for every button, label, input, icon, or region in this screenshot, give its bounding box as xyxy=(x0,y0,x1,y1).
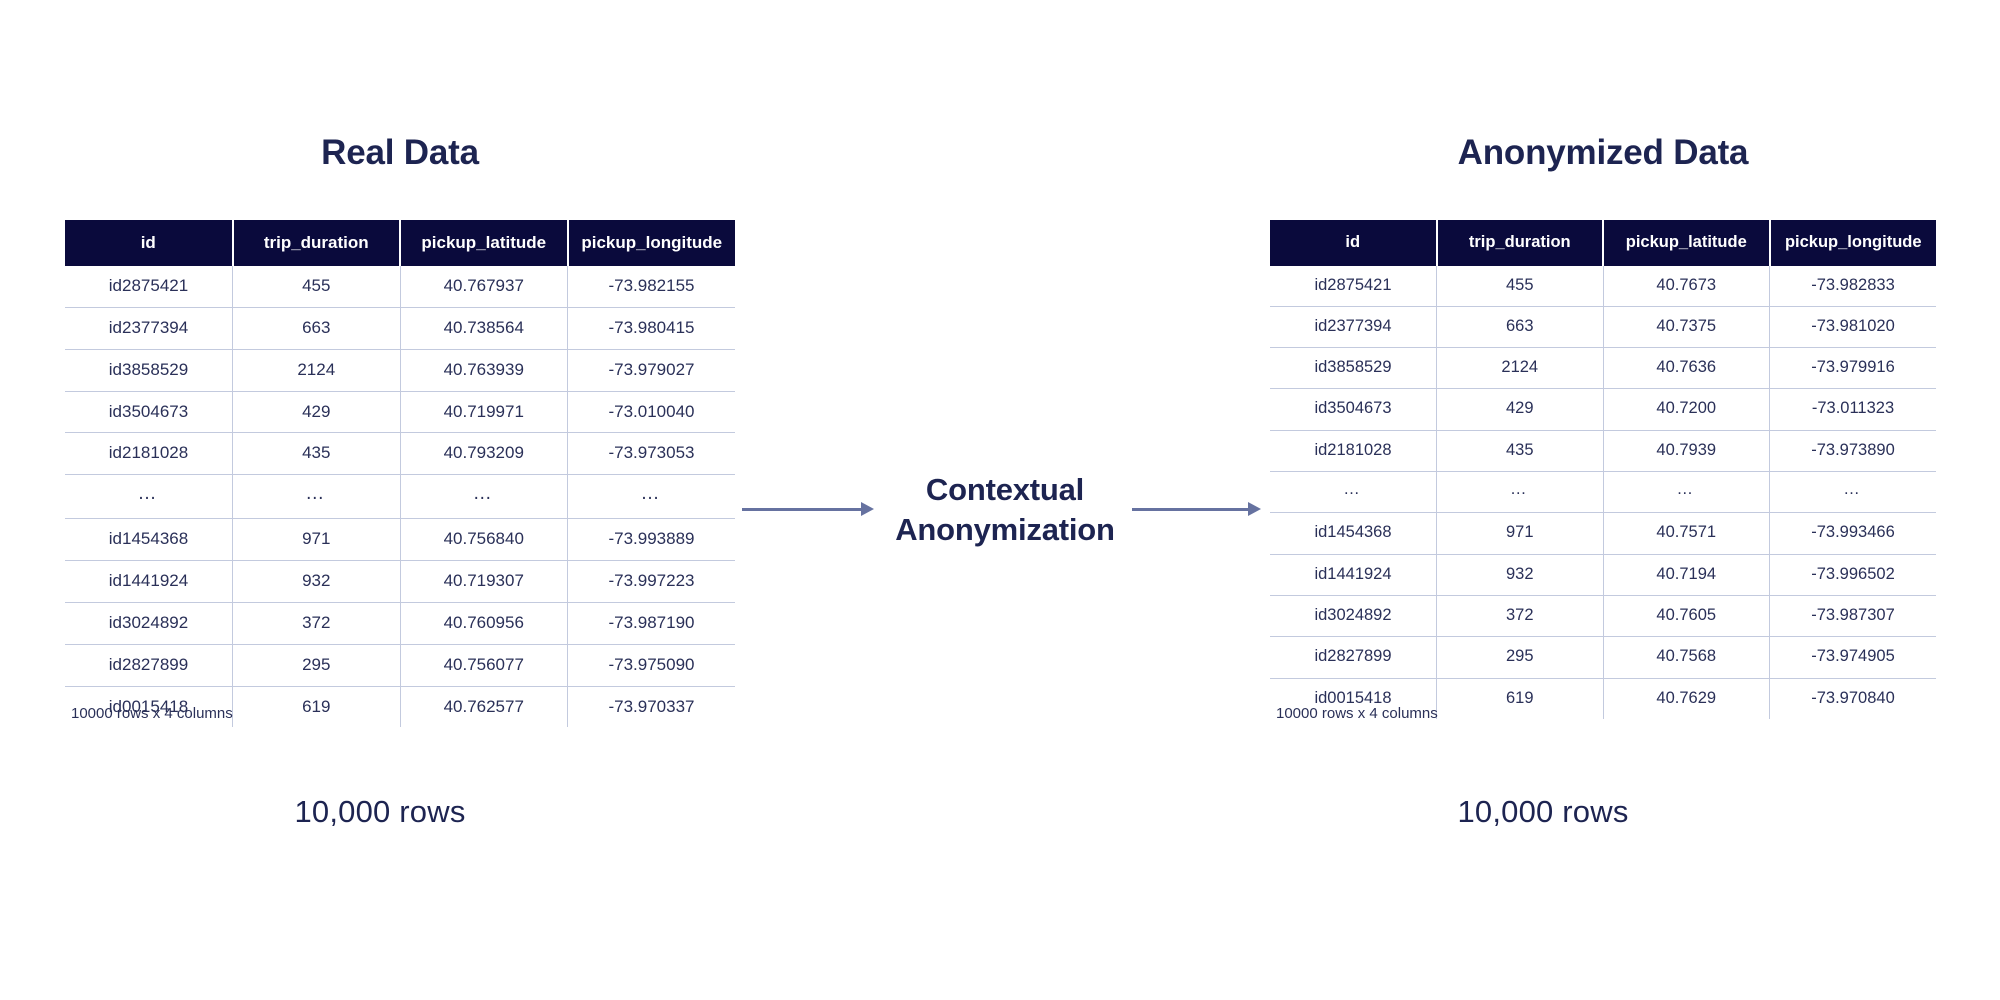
cell-duration: 372 xyxy=(233,602,401,644)
cell-id: id2181028 xyxy=(65,433,233,475)
arrow-line xyxy=(1132,508,1249,511)
column-header-pickup-longitude: pickup_longitude xyxy=(568,220,736,266)
table-row-ellipsis: … … … … xyxy=(65,475,735,519)
transform-label-line1: Contextual xyxy=(926,472,1084,507)
table-row: id2827899 295 40.7568 -73.974905 xyxy=(1270,637,1936,678)
cell-latitude: 40.763939 xyxy=(400,349,568,391)
cell-ellipsis-id: … xyxy=(65,475,233,519)
cell-id: id1441924 xyxy=(65,561,233,603)
cell-duration: 455 xyxy=(233,266,401,307)
cell-latitude: 40.756077 xyxy=(400,644,568,686)
cell-id: id1441924 xyxy=(1270,554,1437,595)
cell-longitude: -73.997223 xyxy=(568,561,736,603)
cell-longitude: -73.993466 xyxy=(1770,513,1937,554)
cell-longitude: -73.973890 xyxy=(1770,430,1937,471)
cell-longitude: -73.996502 xyxy=(1770,554,1937,595)
table-row: id3024892 372 40.7605 -73.987307 xyxy=(1270,596,1936,637)
cell-longitude: -73.970337 xyxy=(568,686,736,727)
table-row-ellipsis: … … … … xyxy=(1270,472,1936,513)
table-row: id2875421 455 40.767937 -73.982155 xyxy=(65,266,735,307)
cell-longitude: -73.979916 xyxy=(1770,348,1937,389)
cell-id: id3024892 xyxy=(1270,596,1437,637)
cell-latitude: 40.7200 xyxy=(1603,389,1770,430)
cell-latitude: 40.738564 xyxy=(400,307,568,349)
column-header-trip-duration: trip_duration xyxy=(1437,220,1604,266)
cell-id: id3024892 xyxy=(65,602,233,644)
cell-id: id3504673 xyxy=(65,391,233,433)
real-data-shape-caption: 10000 rows x 4 columns xyxy=(71,705,233,722)
arrow-head xyxy=(1248,502,1261,516)
anonymization-transform: Contextual Anonymization xyxy=(740,470,1265,580)
cell-latitude: 40.7194 xyxy=(1603,554,1770,595)
cell-duration: 619 xyxy=(1437,678,1604,719)
cell-latitude: 40.719971 xyxy=(400,391,568,433)
cell-duration: 2124 xyxy=(1437,348,1604,389)
cell-id: id2827899 xyxy=(65,644,233,686)
column-header-pickup-latitude: pickup_latitude xyxy=(1603,220,1770,266)
cell-duration: 2124 xyxy=(233,349,401,391)
cell-longitude: -73.993889 xyxy=(568,519,736,561)
table-row: id2377394 663 40.7375 -73.981020 xyxy=(1270,306,1936,347)
cell-id: id2377394 xyxy=(1270,306,1437,347)
cell-duration: 435 xyxy=(233,433,401,475)
cell-longitude: -73.011323 xyxy=(1770,389,1937,430)
table-header-row: id trip_duration pickup_latitude pickup_… xyxy=(1270,220,1936,266)
cell-ellipsis-id: … xyxy=(1270,472,1437,513)
arrow-head xyxy=(861,502,874,516)
cell-id: id2827899 xyxy=(1270,637,1437,678)
cell-duration: 435 xyxy=(1437,430,1604,471)
column-header-pickup-longitude: pickup_longitude xyxy=(1770,220,1937,266)
table-row: id2875421 455 40.7673 -73.982833 xyxy=(1270,266,1936,307)
cell-ellipsis-longitude: … xyxy=(1770,472,1937,513)
cell-id: id1454368 xyxy=(1270,513,1437,554)
cell-duration: 455 xyxy=(1437,266,1604,307)
table-row: id2377394 663 40.738564 -73.980415 xyxy=(65,307,735,349)
cell-latitude: 40.719307 xyxy=(400,561,568,603)
cell-duration: 429 xyxy=(1437,389,1604,430)
arrow-right-icon-in xyxy=(742,502,874,516)
cell-longitude: -73.982155 xyxy=(568,266,736,307)
anonymized-data-table: id trip_duration pickup_latitude pickup_… xyxy=(1270,220,1936,719)
cell-latitude: 40.7568 xyxy=(1603,637,1770,678)
cell-latitude: 40.7375 xyxy=(1603,306,1770,347)
cell-duration: 663 xyxy=(233,307,401,349)
table-row: id2181028 435 40.7939 -73.973890 xyxy=(1270,430,1936,471)
cell-longitude: -73.970840 xyxy=(1770,678,1937,719)
cell-longitude: -73.987307 xyxy=(1770,596,1937,637)
cell-duration: 971 xyxy=(233,519,401,561)
cell-id: id3858529 xyxy=(1270,348,1437,389)
cell-latitude: 40.756840 xyxy=(400,519,568,561)
cell-ellipsis-latitude: … xyxy=(400,475,568,519)
cell-latitude: 40.7939 xyxy=(1603,430,1770,471)
table-row: id3858529 2124 40.7636 -73.979916 xyxy=(1270,348,1936,389)
arrow-line xyxy=(742,508,862,511)
cell-duration: 295 xyxy=(233,644,401,686)
transform-label: Contextual Anonymization xyxy=(885,470,1125,549)
cell-longitude: -73.981020 xyxy=(1770,306,1937,347)
cell-ellipsis-duration: … xyxy=(1437,472,1604,513)
table-row: id1441924 932 40.7194 -73.996502 xyxy=(1270,554,1936,595)
cell-longitude: -73.973053 xyxy=(568,433,736,475)
cell-id: id2377394 xyxy=(65,307,233,349)
cell-latitude: 40.7571 xyxy=(1603,513,1770,554)
anonymized-data-row-count: 10,000 rows xyxy=(1210,795,1876,829)
table-row: id3858529 2124 40.763939 -73.979027 xyxy=(65,349,735,391)
cell-longitude: -73.975090 xyxy=(568,644,736,686)
cell-duration: 932 xyxy=(1437,554,1604,595)
cell-duration: 932 xyxy=(233,561,401,603)
cell-duration: 971 xyxy=(1437,513,1604,554)
cell-longitude: -73.987190 xyxy=(568,602,736,644)
cell-id: id3504673 xyxy=(1270,389,1437,430)
column-header-trip-duration: trip_duration xyxy=(233,220,401,266)
cell-duration: 295 xyxy=(1437,637,1604,678)
table-row: id3504673 429 40.719971 -73.010040 xyxy=(65,391,735,433)
diagram-canvas: Real Data id trip_duration pickup_latitu… xyxy=(0,0,2000,1000)
table-row: id1441924 932 40.719307 -73.997223 xyxy=(65,561,735,603)
cell-latitude: 40.7629 xyxy=(1603,678,1770,719)
table-row: id3024892 372 40.760956 -73.987190 xyxy=(65,602,735,644)
cell-ellipsis-longitude: … xyxy=(568,475,736,519)
cell-duration: 372 xyxy=(1437,596,1604,637)
table-header-row: id trip_duration pickup_latitude pickup_… xyxy=(65,220,735,266)
anonymized-data-shape-caption: 10000 rows x 4 columns xyxy=(1276,705,1438,722)
transform-label-line2: Anonymization xyxy=(895,512,1115,547)
cell-latitude: 40.7636 xyxy=(1603,348,1770,389)
real-data-table: id trip_duration pickup_latitude pickup_… xyxy=(65,220,735,727)
table-row: id3504673 429 40.7200 -73.011323 xyxy=(1270,389,1936,430)
column-header-pickup-latitude: pickup_latitude xyxy=(400,220,568,266)
table-row: id2827899 295 40.756077 -73.975090 xyxy=(65,644,735,686)
cell-duration: 663 xyxy=(1437,306,1604,347)
table-row: id1454368 971 40.756840 -73.993889 xyxy=(65,519,735,561)
cell-latitude: 40.7673 xyxy=(1603,266,1770,307)
cell-longitude: -73.980415 xyxy=(568,307,736,349)
cell-ellipsis-latitude: … xyxy=(1603,472,1770,513)
cell-latitude: 40.793209 xyxy=(400,433,568,475)
cell-latitude: 40.7605 xyxy=(1603,596,1770,637)
cell-id: id3858529 xyxy=(65,349,233,391)
column-header-id: id xyxy=(65,220,233,266)
real-data-row-count: 10,000 rows xyxy=(45,795,715,829)
cell-id: id2875421 xyxy=(65,266,233,307)
cell-longitude: -73.974905 xyxy=(1770,637,1937,678)
anonymized-data-title: Anonymized Data xyxy=(1270,135,1936,170)
cell-latitude: 40.760956 xyxy=(400,602,568,644)
cell-longitude: -73.979027 xyxy=(568,349,736,391)
cell-longitude: -73.982833 xyxy=(1770,266,1937,307)
cell-latitude: 40.762577 xyxy=(400,686,568,727)
cell-longitude: -73.010040 xyxy=(568,391,736,433)
cell-ellipsis-duration: … xyxy=(233,475,401,519)
column-header-id: id xyxy=(1270,220,1437,266)
cell-duration: 429 xyxy=(233,391,401,433)
table-row: id2181028 435 40.793209 -73.973053 xyxy=(65,433,735,475)
arrow-right-icon-out xyxy=(1132,502,1261,516)
cell-id: id2875421 xyxy=(1270,266,1437,307)
table-row: id1454368 971 40.7571 -73.993466 xyxy=(1270,513,1936,554)
cell-id: id1454368 xyxy=(65,519,233,561)
cell-latitude: 40.767937 xyxy=(400,266,568,307)
cell-id: id2181028 xyxy=(1270,430,1437,471)
real-data-title: Real Data xyxy=(65,135,735,170)
cell-duration: 619 xyxy=(233,686,401,727)
